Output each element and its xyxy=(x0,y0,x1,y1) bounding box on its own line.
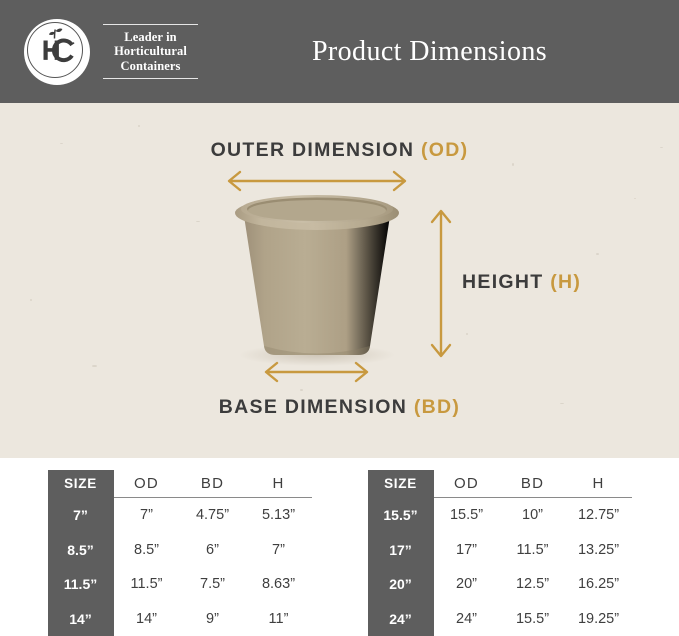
pot-interior xyxy=(248,200,386,221)
table-header-row: SIZE OD BD H xyxy=(368,470,632,498)
cell-h: 13.25” xyxy=(566,533,632,567)
table-row: 24” 24” 15.5” 19.25” xyxy=(368,602,632,636)
page-header: Leader in Horticultural Containers Produ… xyxy=(0,0,679,103)
cell-h: 7” xyxy=(246,533,312,567)
column-header-size: SIZE xyxy=(48,470,114,498)
table-row: 17” 17” 11.5” 13.25” xyxy=(368,533,632,567)
dimension-tables: SIZE OD BD H 7” 7” 4.75” 5.13” 8.5” 8.5”… xyxy=(0,470,679,636)
height-abbr: (H) xyxy=(550,271,581,293)
column-header-od: OD xyxy=(434,470,500,498)
tagline-line-3: Containers xyxy=(103,59,198,74)
tagline-line-2: Horticultural xyxy=(103,44,198,59)
cell-h: 16.25” xyxy=(566,567,632,601)
cell-h: 8.63” xyxy=(246,567,312,601)
diagram-canvas: OUTER DIMENSION (OD) xyxy=(0,103,679,458)
cell-bd: 6” xyxy=(180,533,246,567)
height-arrow-icon xyxy=(432,211,450,356)
cell-h: 11” xyxy=(246,602,312,636)
dimension-table-large: SIZE OD BD H 15.5” 15.5” 10” 12.75” 17” … xyxy=(368,470,632,636)
table-row: 14” 14” 9” 11” xyxy=(48,602,312,636)
cell-bd: 15.5” xyxy=(500,602,566,636)
hc-circle-leaf-logo-icon xyxy=(24,19,90,85)
cell-od: 7” xyxy=(114,498,180,533)
cell-od: 11.5” xyxy=(114,567,180,601)
tagline-line-1: Leader in xyxy=(103,30,198,45)
cell-size: 14” xyxy=(48,602,114,636)
cell-od: 24” xyxy=(434,602,500,636)
column-header-h: H xyxy=(566,470,632,498)
table-row: 11.5” 11.5” 7.5” 8.63” xyxy=(48,567,312,601)
brand-tagline: Leader in Horticultural Containers xyxy=(103,24,198,80)
cell-size: 20” xyxy=(368,567,434,601)
cell-h: 12.75” xyxy=(566,498,632,533)
cell-size: 17” xyxy=(368,533,434,567)
column-header-bd: BD xyxy=(180,470,246,498)
column-header-h: H xyxy=(246,470,312,498)
height-label: HEIGHT (H) xyxy=(462,271,581,294)
table-body: 7” 7” 4.75” 5.13” 8.5” 8.5” 6” 7” 11.5” … xyxy=(48,498,312,636)
outer-dimension-arrow-icon xyxy=(229,172,405,190)
base-dimension-label: BASE DIMENSION (BD) xyxy=(0,396,679,419)
cell-bd: 9” xyxy=(180,602,246,636)
cell-bd: 7.5” xyxy=(180,567,246,601)
cell-od: 8.5” xyxy=(114,533,180,567)
cell-size: 15.5” xyxy=(368,498,434,533)
column-header-size: SIZE xyxy=(368,470,434,498)
cell-bd: 12.5” xyxy=(500,567,566,601)
dimension-diagram-section: OUTER DIMENSION (OD) xyxy=(0,103,679,458)
cell-size: 8.5” xyxy=(48,533,114,567)
column-header-od: OD xyxy=(114,470,180,498)
dimension-table-small: SIZE OD BD H 7” 7” 4.75” 5.13” 8.5” 8.5”… xyxy=(48,470,312,636)
column-header-bd: BD xyxy=(500,470,566,498)
cell-bd: 11.5” xyxy=(500,533,566,567)
page-title-text: Product Dimensions xyxy=(312,36,547,68)
table-body: 15.5” 15.5” 10” 12.75” 17” 17” 11.5” 13.… xyxy=(368,498,632,636)
cell-size: 11.5” xyxy=(48,567,114,601)
cell-od: 15.5” xyxy=(434,498,500,533)
cell-size: 24” xyxy=(368,602,434,636)
cell-od: 17” xyxy=(434,533,500,567)
cell-od: 20” xyxy=(434,567,500,601)
table-row: 15.5” 15.5” 10” 12.75” xyxy=(368,498,632,533)
table-head: SIZE OD BD H xyxy=(368,470,632,498)
brand-lockup: Leader in Horticultural Containers xyxy=(24,19,198,85)
table-row: 8.5” 8.5” 6” 7” xyxy=(48,533,312,567)
cell-bd: 4.75” xyxy=(180,498,246,533)
table-row: 7” 7” 4.75” 5.13” xyxy=(48,498,312,533)
base-dimension-text: BASE DIMENSION xyxy=(219,396,407,418)
cell-h: 19.25” xyxy=(566,602,632,636)
cell-size: 7” xyxy=(48,498,114,533)
table-row: 20” 20” 12.5” 16.25” xyxy=(368,567,632,601)
cell-od: 14” xyxy=(114,602,180,636)
base-dimension-abbr: (BD) xyxy=(414,396,460,418)
table-head: SIZE OD BD H xyxy=(48,470,312,498)
table-header-row: SIZE OD BD H xyxy=(48,470,312,498)
height-text: HEIGHT xyxy=(462,271,543,293)
pot-body xyxy=(244,216,390,355)
cell-h: 5.13” xyxy=(246,498,312,533)
logo-monogram-icon xyxy=(24,19,90,85)
cell-bd: 10” xyxy=(500,498,566,533)
